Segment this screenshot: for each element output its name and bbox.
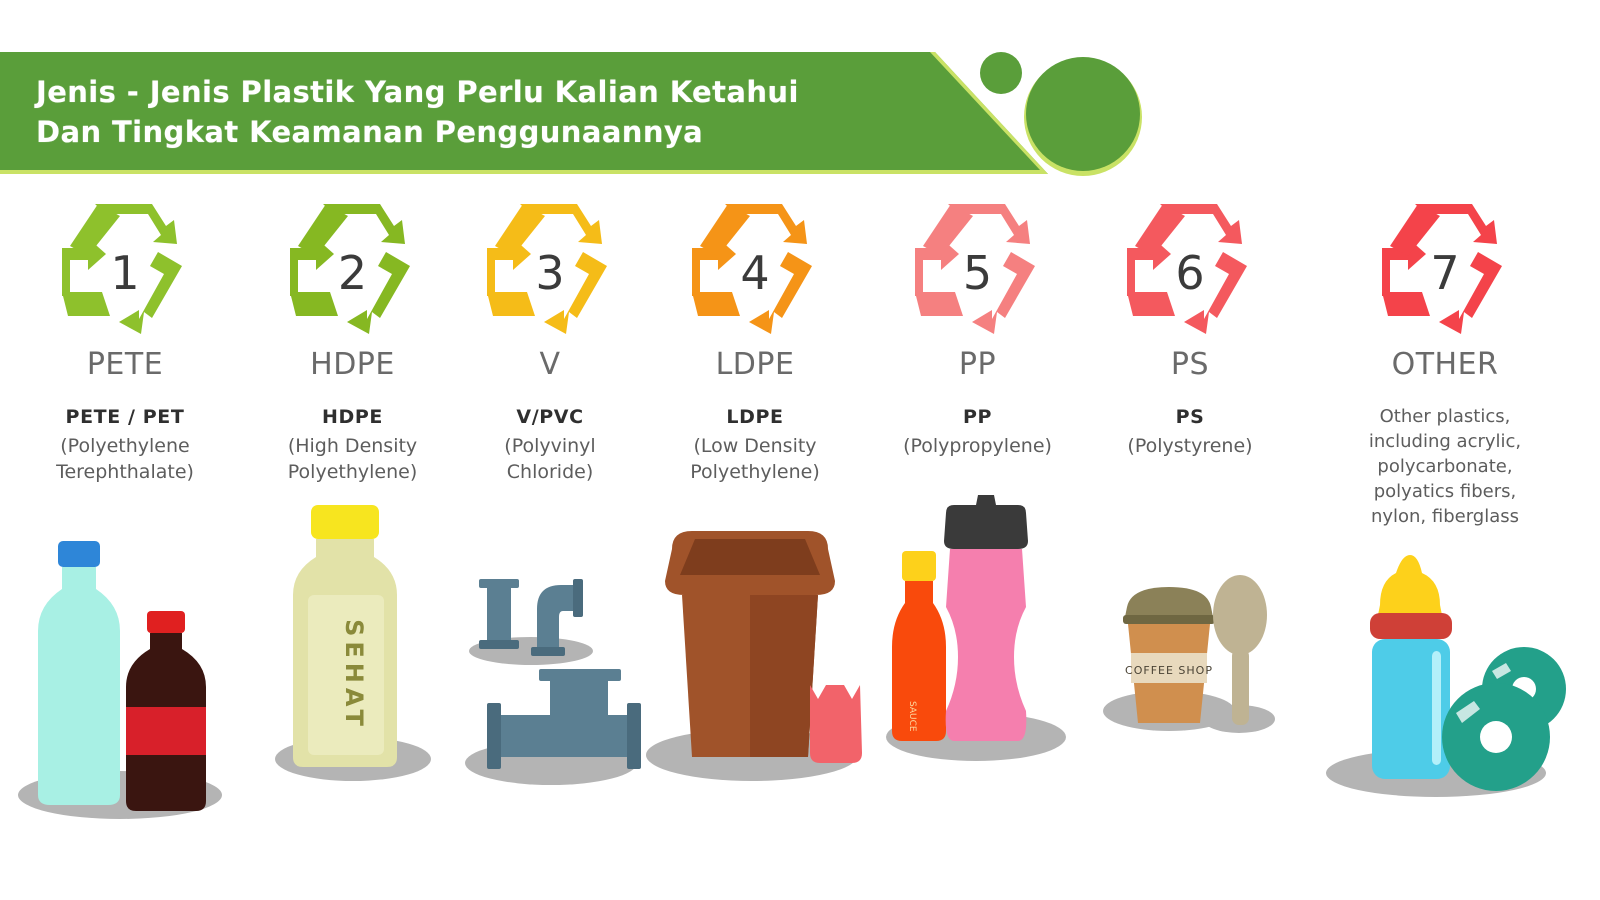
plastic-7-illustration xyxy=(1290,529,1600,896)
plastic-7-desc-line-3: polycarbonate, xyxy=(1369,454,1521,479)
sauce-bottle-body xyxy=(892,581,946,741)
baby-bottle-and-cds-icon xyxy=(1310,547,1580,807)
plastic-4-fullname-line-2: Polyethylene) xyxy=(690,459,819,485)
pipe-elbow-flange-bottom xyxy=(531,647,565,656)
water-bottle-body xyxy=(38,567,120,805)
plastic-6-description: PS (Polystyrene) xyxy=(1127,404,1252,459)
plastic-column-3: 3 V V/PVC (Polyvinyl Chloride) xyxy=(455,196,645,896)
plastic-1-abbr: PETE / PET xyxy=(56,404,194,430)
water-bottle-and-soda-bottle-icon xyxy=(10,533,240,833)
milk-bottle-icon: SEHAT xyxy=(263,491,443,791)
plastic-2-description: HDPE (High Density Polyethylene) xyxy=(288,404,417,485)
plastic-3-fullname: (Polyvinyl Chloride) xyxy=(504,433,595,485)
baby-bottle-highlight xyxy=(1432,651,1441,765)
pipe-tee-vertical xyxy=(550,681,608,715)
banner-title-line-1: Jenis - Jenis Plastik Yang Perlu Kalian … xyxy=(36,72,936,112)
coffee-cup-label-text: COFFEE SHOP xyxy=(1125,664,1213,677)
recycle-symbol-2: 2 xyxy=(268,196,438,346)
coffee-lid xyxy=(1125,587,1213,617)
recycle-symbol-3: 3 xyxy=(465,196,635,346)
water-bottle-cap xyxy=(58,541,100,567)
banner-title-line-2: Dan Tingkat Keamanan Penggunaannya xyxy=(36,112,936,152)
recycle-symbol-7: 7 xyxy=(1360,196,1530,346)
cd-front-hole xyxy=(1480,721,1512,753)
plastic-7-desc-line-5: nylon, fiberglass xyxy=(1369,504,1521,529)
recycle-symbol-6-code: PS xyxy=(1171,348,1209,382)
sport-bottle-cap xyxy=(944,495,1028,549)
plastic-3-illustration xyxy=(455,485,645,896)
plastic-1-illustration xyxy=(0,485,250,896)
plastics-grid: 1 PETE PETE / PET (Polyethylene Terephth… xyxy=(0,196,1600,896)
plastic-7-desc-line-1: Other plastics, xyxy=(1369,404,1521,429)
plastic-5-abbr: PP xyxy=(903,404,1052,430)
sport-bottle-body xyxy=(945,549,1026,741)
plastic-2-abbr: HDPE xyxy=(288,404,417,430)
recycle-symbol-7-number: 7 xyxy=(1360,196,1530,346)
bin-lid-inner xyxy=(680,539,820,575)
plastic-7-desc-line-2: including acrylic, xyxy=(1369,429,1521,454)
plastic-5-fullname: (Polypropylene) xyxy=(903,433,1052,459)
plastic-1-fullname-line-2: Terephthalate) xyxy=(56,459,194,485)
milk-bottle-cap xyxy=(311,505,379,539)
recycle-symbol-1: 1 xyxy=(40,196,210,346)
plastic-2-fullname-line-1: (High Density xyxy=(288,433,417,459)
pipe-tee-flange-right xyxy=(627,703,641,769)
plastic-4-fullname-line-1: (Low Density xyxy=(690,433,819,459)
plastic-4-description: LDPE (Low Density Polyethylene) xyxy=(690,404,819,485)
recycle-symbol-2-number: 2 xyxy=(268,196,438,346)
soda-bottle-label xyxy=(126,707,206,755)
soda-bottle-cap xyxy=(147,611,185,633)
pipe-small-flange-top xyxy=(479,579,519,588)
plastic-2-fullname-line-2: Polyethylene) xyxy=(288,459,417,485)
spoon-bowl xyxy=(1213,575,1267,655)
recycle-symbol-7-code: OTHER xyxy=(1392,348,1499,382)
recycle-symbol-5-code: PP xyxy=(959,348,996,382)
plastic-4-fullname: (Low Density Polyethylene) xyxy=(690,433,819,485)
pipe-tee-flange-left xyxy=(487,703,501,769)
spoon-handle xyxy=(1232,649,1249,725)
plastic-3-abbr: V/PVC xyxy=(504,404,595,430)
recycle-symbol-6-number: 6 xyxy=(1105,196,1275,346)
coffee-lid-rim xyxy=(1123,615,1215,624)
plastic-column-1: 1 PETE PETE / PET (Polyethylene Terephth… xyxy=(0,196,250,896)
recycle-symbol-5: 5 xyxy=(893,196,1063,346)
plastic-6-abbr: PS xyxy=(1127,404,1252,430)
plastic-3-fullname-line-2: Chloride) xyxy=(504,459,595,485)
recycle-symbol-4: 4 xyxy=(670,196,840,346)
plastic-column-6: 6 PS PS (Polystyrene) COFFEE SHOP xyxy=(1090,196,1290,896)
plastic-4-abbr: LDPE xyxy=(690,404,819,430)
baby-bottle-nipple xyxy=(1378,555,1442,615)
pipe-tee-horizontal xyxy=(497,715,633,757)
recycle-symbol-5-number: 5 xyxy=(893,196,1063,346)
recycle-symbol-1-code: PETE xyxy=(87,348,163,382)
plastic-bag xyxy=(810,685,862,763)
plastic-6-illustration: COFFEE SHOP xyxy=(1090,459,1290,896)
plastic-1-fullname: (Polyethylene Terephthalate) xyxy=(56,433,194,485)
recycle-symbol-1-number: 1 xyxy=(40,196,210,346)
banner-circle-small xyxy=(980,52,1022,94)
plastic-5-fullname-line-1: (Polypropylene) xyxy=(903,433,1052,459)
plastic-column-2: 2 HDPE HDPE (High Density Polyethylene) … xyxy=(250,196,455,896)
plastic-column-5: 5 PP PP (Polypropylene) SAUCE xyxy=(865,196,1090,896)
recycle-symbol-6: 6 xyxy=(1105,196,1275,346)
plastic-2-fullname: (High Density Polyethylene) xyxy=(288,433,417,485)
sauce-bottle-label-text: SAUCE xyxy=(907,701,917,732)
plastic-2-illustration: SEHAT xyxy=(250,485,455,896)
recycle-symbol-3-number: 3 xyxy=(465,196,635,346)
pipe-elbow-body xyxy=(537,585,575,649)
plastic-column-7: 7 OTHER Other plastics, including acryli… xyxy=(1290,196,1600,896)
banner-circle-large xyxy=(1026,57,1140,171)
plastic-4-illustration xyxy=(645,485,865,896)
plastic-3-fullname-line-1: (Polyvinyl xyxy=(504,433,595,459)
plastic-1-fullname-line-1: (Polyethylene xyxy=(56,433,194,459)
trash-bin-and-plastic-bag-icon xyxy=(640,507,870,787)
plastic-7-description: Other plastics, including acrylic, polyc… xyxy=(1369,404,1521,529)
bin-body-shade xyxy=(750,595,818,757)
plastic-3-description: V/PVC (Polyvinyl Chloride) xyxy=(504,404,595,485)
plastic-column-4: 4 LDPE LDPE (Low Density Polyethylene) xyxy=(645,196,865,896)
plastic-7-desc-line-4: polyatics fibers, xyxy=(1369,479,1521,504)
plastic-7-description-block: Other plastics, including acrylic, polyc… xyxy=(1369,404,1521,529)
pipe-small-body xyxy=(487,588,511,640)
pvc-pipes-icon xyxy=(455,567,645,817)
recycle-symbol-2-code: HDPE xyxy=(310,348,395,382)
baby-bottle-ring xyxy=(1370,613,1452,639)
recycle-symbol-4-number: 4 xyxy=(670,196,840,346)
coffee-cup-and-spoon-icon: COFFEE SHOP xyxy=(1095,541,1285,771)
banner-title: Jenis - Jenis Plastik Yang Perlu Kalian … xyxy=(36,72,936,152)
plastic-5-illustration: SAUCE xyxy=(865,459,1090,896)
sauce-bottle-and-sport-bottle-icon: SAUCE xyxy=(878,479,1078,769)
plastic-6-fullname: (Polystyrene) xyxy=(1127,433,1252,459)
sauce-bottle-cap xyxy=(902,551,936,581)
recycle-symbol-4-code: LDPE xyxy=(716,348,795,382)
pipe-tee-top-flange xyxy=(539,669,621,681)
pipe-elbow-flange-right xyxy=(573,579,583,617)
plastic-1-description: PETE / PET (Polyethylene Terephthalate) xyxy=(56,404,194,485)
pipe-small-flange-bottom xyxy=(479,640,519,649)
milk-bottle-label-text: SEHAT xyxy=(340,619,368,731)
plastic-5-description: PP (Polypropylene) xyxy=(903,404,1052,459)
plastic-6-fullname-line-1: (Polystyrene) xyxy=(1127,433,1252,459)
banner-decoration-circles xyxy=(960,40,1180,190)
recycle-symbol-3-code: V xyxy=(539,348,560,382)
